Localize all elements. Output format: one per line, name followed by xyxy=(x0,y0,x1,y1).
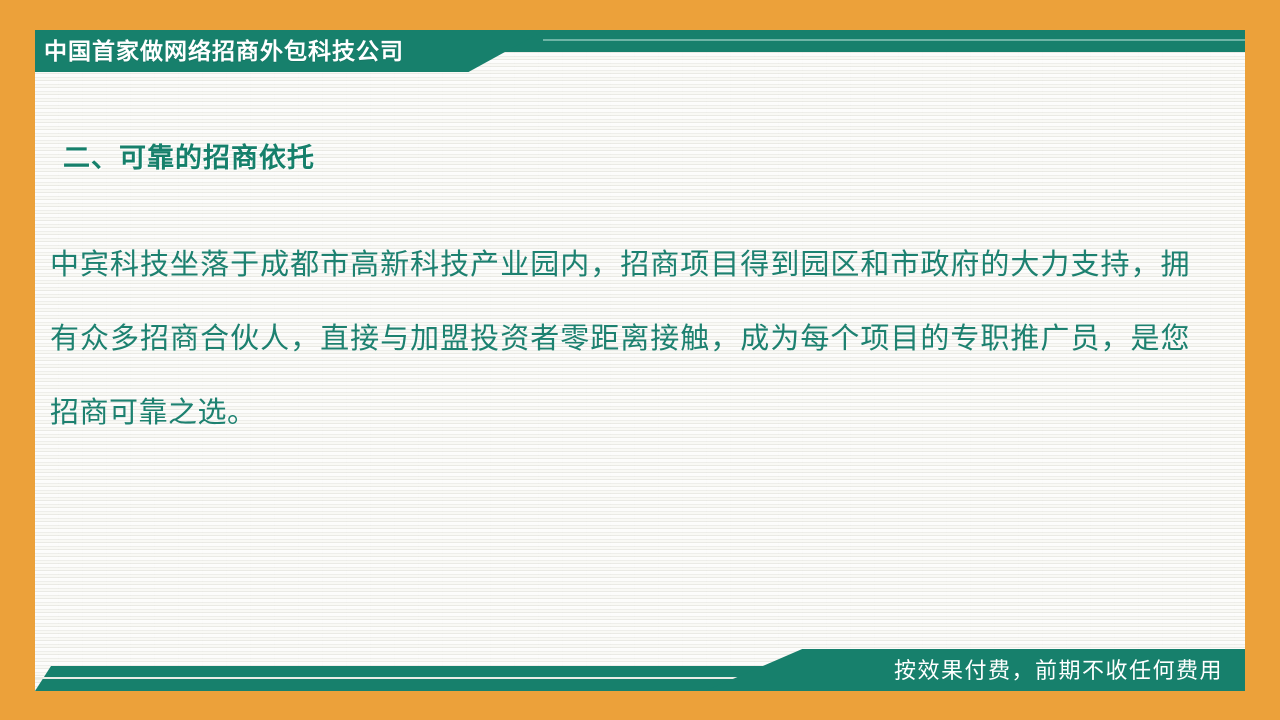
header-hairline-divider xyxy=(543,39,1245,41)
footer-tagline: 按效果付费，前期不收任何费用 xyxy=(894,656,1223,686)
section-title: 二、可靠的招商依托 xyxy=(63,136,315,175)
footer-hairline-divider xyxy=(35,677,750,679)
footer-banner: 按效果付费，前期不收任何费用 xyxy=(35,649,1245,691)
body-paragraph: 中宾科技坐落于成都市高新科技产业园内，招商项目得到园区和市政府的大力支持，拥有众… xyxy=(50,228,1190,450)
header-banner: 中国首家做网络招商外包科技公司 xyxy=(35,30,1245,72)
slide-canvas: 中国首家做网络招商外包科技公司 二、可靠的招商依托 中宾科技坐落于成都市高新科技… xyxy=(0,0,1280,720)
header-thin-bar xyxy=(465,30,1245,52)
header-title: 中国首家做网络招商外包科技公司 xyxy=(44,35,404,67)
